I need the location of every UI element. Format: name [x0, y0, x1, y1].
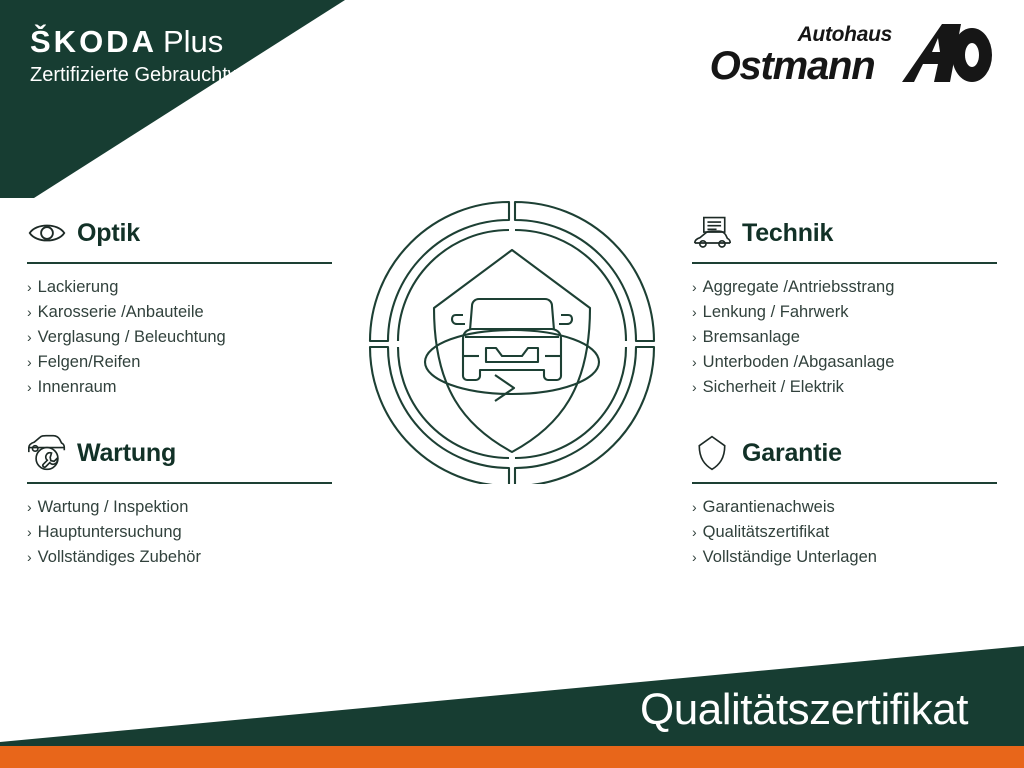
chevron-right-icon: › [692, 300, 697, 325]
skoda-plus-logo: ŠKODAPlus Zertifizierte Gebrauchtwagen [30, 26, 287, 87]
shield-icon [692, 434, 732, 472]
list-item-label: Unterboden /Abgasanlage [703, 350, 895, 375]
chevron-right-icon: › [27, 325, 32, 350]
list-item: ›Felgen/Reifen [27, 350, 332, 375]
chevron-right-icon: › [692, 325, 697, 350]
section-list: ›Garantienachweis ›Qualitätszertifikat ›… [692, 495, 997, 570]
section-list: ›Lackierung ›Karosserie /Anbauteile ›Ver… [27, 275, 332, 400]
central-inspection-graphic [362, 198, 662, 484]
chevron-right-icon: › [27, 520, 32, 545]
list-item: ›Verglasung / Beleuchtung [27, 325, 332, 350]
chevron-right-icon: › [27, 375, 32, 400]
car-document-icon [692, 214, 732, 252]
list-item: ›Hauptuntersuchung [27, 520, 332, 545]
shield-outline [434, 250, 590, 452]
outer-ring [370, 202, 654, 484]
skoda-brand-mark: ŠKODA [30, 24, 157, 59]
dealer-prefix: Autohaus [798, 24, 892, 45]
list-item-label: Vollständige Unterlagen [703, 545, 877, 570]
list-item-label: Wartung / Inspektion [38, 495, 189, 520]
section-header: Wartung [27, 432, 332, 474]
list-item-label: Lackierung [38, 275, 119, 300]
section-header: Garantie [692, 432, 997, 474]
chevron-right-icon: › [692, 520, 697, 545]
orbit-arrow [495, 375, 514, 401]
section-header: Optik [27, 212, 332, 254]
list-item-label: Hauptuntersuchung [38, 520, 182, 545]
list-item: ›Karosserie /Anbauteile [27, 300, 332, 325]
list-item-label: Lenkung / Fahrwerk [703, 300, 849, 325]
list-item-label: Karosserie /Anbauteile [38, 300, 204, 325]
list-item: ›Garantienachweis [692, 495, 997, 520]
section-divider [27, 262, 332, 264]
section-header: Technik [692, 212, 997, 254]
list-item: ›Innenraum [27, 375, 332, 400]
section-title: Garantie [742, 441, 842, 466]
chevron-right-icon: › [692, 545, 697, 570]
section-divider [692, 482, 997, 484]
section-divider [27, 482, 332, 484]
list-item: ›Wartung / Inspektion [27, 495, 332, 520]
list-item-label: Felgen/Reifen [38, 350, 141, 375]
ao-monogram-icon [900, 22, 992, 84]
list-item: ›Lenkung / Fahrwerk [692, 300, 997, 325]
section-wartung: Wartung ›Wartung / Inspektion ›Hauptunte… [27, 432, 332, 570]
chevron-right-icon: › [27, 275, 32, 300]
list-item-label: Garantienachweis [703, 495, 835, 520]
list-item-label: Bremsanlage [703, 325, 800, 350]
list-item-label: Aggregate /Antriebsstrang [703, 275, 895, 300]
list-item-label: Vollständiges Zubehör [38, 545, 201, 570]
list-item: ›Vollständige Unterlagen [692, 545, 997, 570]
list-item-label: Verglasung / Beleuchtung [38, 325, 226, 350]
section-list: ›Aggregate /Antriebsstrang ›Lenkung / Fa… [692, 275, 997, 400]
car-wrench-icon [27, 434, 67, 472]
section-title: Technik [742, 221, 833, 246]
section-list: ›Wartung / Inspektion ›Hauptuntersuchung… [27, 495, 332, 570]
skoda-brand-subtitle: Zertifizierte Gebrauchtwagen [30, 64, 287, 87]
footer-title: Qualitätszertifikat [640, 688, 968, 732]
section-technik: Technik ›Aggregate /Antriebsstrang ›Lenk… [692, 212, 997, 400]
skoda-brand-suffix: Plus [163, 24, 223, 59]
list-item: ›Aggregate /Antriebsstrang [692, 275, 997, 300]
section-title: Optik [77, 221, 140, 246]
chevron-right-icon: › [27, 545, 32, 570]
list-item-label: Sicherheit / Elektrik [703, 375, 844, 400]
skoda-wordmark-row: ŠKODAPlus [30, 26, 287, 59]
dealer-name: Ostmann [710, 46, 892, 86]
section-garantie: Garantie ›Garantienachweis ›Qualitätszer… [692, 432, 997, 570]
certificate-page: ŠKODAPlus Zertifizierte Gebrauchtwagen A… [0, 0, 1024, 768]
section-optik: Optik ›Lackierung ›Karosserie /Anbauteil… [27, 212, 332, 400]
car-front-icon [452, 299, 572, 380]
chevron-right-icon: › [27, 300, 32, 325]
chevron-right-icon: › [692, 275, 697, 300]
chevron-right-icon: › [27, 350, 32, 375]
list-item: ›Vollständiges Zubehör [27, 545, 332, 570]
chevron-right-icon: › [692, 495, 697, 520]
inner-ring [398, 230, 626, 458]
list-item-label: Innenraum [38, 375, 117, 400]
chevron-right-icon: › [692, 375, 697, 400]
section-divider [692, 262, 997, 264]
chevron-right-icon: › [27, 495, 32, 520]
list-item: ›Bremsanlage [692, 325, 997, 350]
list-item-label: Qualitätszertifikat [703, 520, 830, 545]
list-item: ›Lackierung [27, 275, 332, 300]
dealer-logo: Autohaus Ostmann [710, 22, 992, 86]
chevron-right-icon: › [692, 350, 697, 375]
list-item: ›Qualitätszertifikat [692, 520, 997, 545]
orange-accent-bar [0, 746, 1024, 768]
list-item: ›Sicherheit / Elektrik [692, 375, 997, 400]
eye-icon [27, 214, 67, 252]
section-title: Wartung [77, 441, 176, 466]
list-item: ›Unterboden /Abgasanlage [692, 350, 997, 375]
